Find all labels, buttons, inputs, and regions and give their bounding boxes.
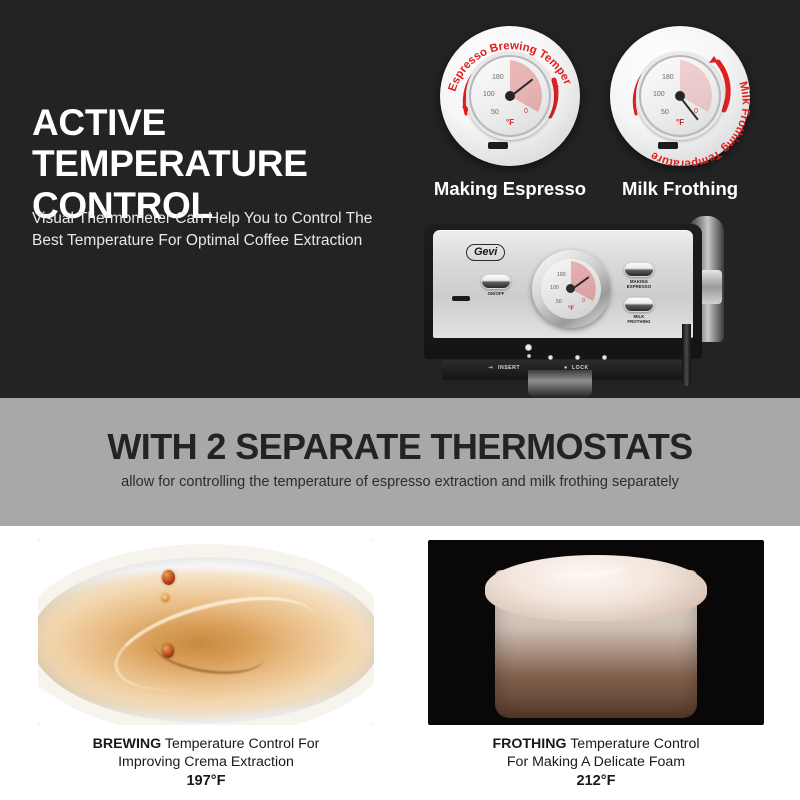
foam-scene: [428, 540, 764, 725]
cup-rim: [38, 544, 374, 725]
frothing-caption-line2: For Making A Delicate Foam: [507, 754, 685, 770]
machine-gauge-face: 180 100 50 0 °F: [541, 259, 601, 319]
curved-label-text: Milk Frothing Temperature: [649, 80, 750, 166]
frothing-temperature: 212°F: [428, 772, 764, 791]
gauge-caption-espresso: Making Espresso: [430, 178, 590, 200]
banner-title: WITH 2 SEPARATE THERMOSTATS: [0, 426, 800, 468]
curved-label-text: Espresso Brewing Temperature: [440, 26, 574, 93]
machine-gauge-foot: [452, 296, 470, 301]
infographic-page: ACTIVE TEMPERATURE CONTROL Visual Thermo…: [0, 0, 800, 800]
machine-gauge-tick-100: 100: [550, 285, 559, 291]
card-brewing: BREWING Temperature Control For Improvin…: [38, 540, 398, 725]
machine-milk-frothing-button[interactable]: [624, 297, 654, 312]
gauge-badge-espresso: 180 100 50 0 °F Espresso Brewing Tempera…: [440, 26, 580, 166]
foam-cap: [485, 555, 707, 622]
steam-wand: [682, 324, 691, 386]
comparison-cards-section: BREWING Temperature Control For Improvin…: [0, 526, 800, 800]
machine-gauge-tick-180: 180: [557, 272, 566, 278]
gauge-curved-label-espresso: Espresso Brewing Temperature: [440, 26, 580, 166]
portafilter: [528, 370, 592, 398]
svg-text:Espresso Brewing Temperature: Espresso Brewing Temperature: [440, 26, 574, 93]
machine-onoff-label: ON/OFF: [474, 291, 518, 296]
machine-gauge-tick-50: 50: [556, 299, 562, 305]
brewing-caption-line2: Improving Crema Extraction: [118, 754, 294, 770]
machine-body: Gevi ON/OFF MAKING ESPRESSO MILK FROTHIN…: [424, 224, 702, 359]
frothing-caption-rest: Temperature Control: [567, 736, 700, 752]
thermostats-banner: WITH 2 SEPARATE THERMOSTATS allow for co…: [0, 398, 800, 526]
espresso-machine-photo: Gevi ON/OFF MAKING ESPRESSO MILK FROTHIN…: [424, 216, 724, 398]
gauge-badge-milk: 180 100 50 0 °F Milk Frothing Temperatur…: [610, 26, 750, 166]
hero-section: ACTIVE TEMPERATURE CONTROL Visual Thermo…: [0, 0, 800, 398]
frothing-foam-photo: [428, 540, 764, 725]
machine-making-espresso-button[interactable]: [624, 262, 654, 277]
brewing-emphasis: BREWING: [93, 736, 162, 752]
gauge-caption-milk: Milk Frothing: [600, 178, 760, 200]
frothing-emphasis: FROTHING: [492, 736, 566, 752]
machine-making-espresso-label: MAKING ESPRESSO: [617, 279, 661, 290]
machine-gauge-unit: °F: [568, 306, 574, 312]
brewing-temperature: 197°F: [38, 772, 374, 791]
brewing-caption-rest: Temperature Control For: [161, 736, 319, 752]
insert-arrow-icon: ⇥: [488, 365, 493, 371]
svg-text:Milk Frothing Temperature: Milk Frothing Temperature: [649, 80, 750, 166]
machine-gauge-tick-0: 0: [582, 298, 585, 304]
machine-gauge-hub: [566, 284, 575, 293]
brand-logo: Gevi: [466, 244, 505, 261]
machine-thermometer-gauge: 180 100 50 0 °F: [532, 250, 610, 328]
card-frothing: FROTHING Temperature Control For Making …: [428, 540, 788, 725]
machine-onoff-button[interactable]: [481, 274, 511, 289]
hero-subtitle: Visual Thermometer Can Help You to Contr…: [32, 208, 377, 253]
brewing-caption: BREWING Temperature Control For Improvin…: [38, 735, 374, 791]
indicator-light-small: [527, 354, 531, 358]
frothing-caption: FROTHING Temperature Control For Making …: [428, 735, 764, 791]
banner-subtitle: allow for controlling the temperature of…: [0, 474, 800, 490]
insert-label: INSERT: [498, 365, 520, 371]
brewing-crema-photo: [38, 540, 374, 725]
machine-milk-frothing-label: MILK FROTHING: [617, 314, 661, 325]
gauge-curved-label-milk: Milk Frothing Temperature: [610, 26, 750, 166]
indicator-light-power: [525, 344, 532, 351]
foam-dimple: [551, 561, 627, 579]
